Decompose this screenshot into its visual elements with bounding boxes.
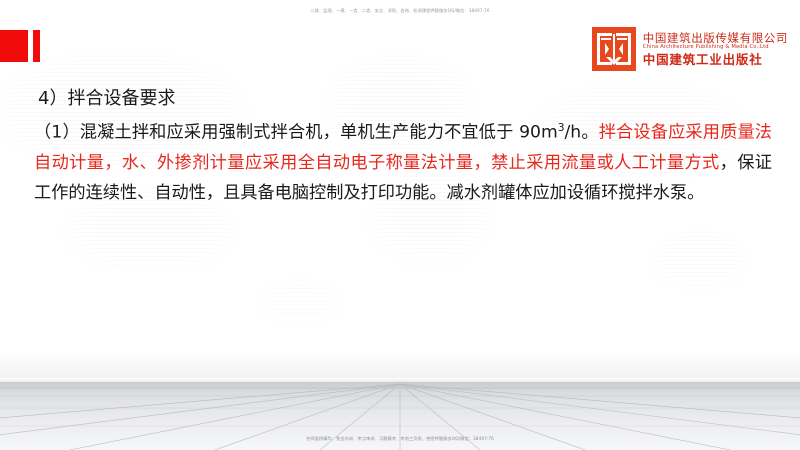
watermark-top: 二建、监理、一建、一造、二造、安全、消防、咨询、检测课程押题服务QQ/微信：38… [0,8,800,14]
red-accent-bar [33,30,40,62]
body-segment-0: （1）混凝土拌和应采用强制式拌合机，单机生产能力不宜低于 90m [34,123,558,143]
slide-heading: 4）拌合设备要求 [38,84,175,110]
logo-imprint-cn: 中国建筑工业出版社 [643,53,788,66]
open-book-building-logo-icon [592,27,636,71]
publisher-logo: 中国建筑出版传媒有限公司 China Architecture Publishi… [592,27,788,71]
red-accent-block [0,30,28,62]
watermark-bottom: 名师面授精华、免金内训、考点串讲、习题模考、考前三页纸、绝密押题服务QQ/微信：… [0,436,800,442]
logo-company-en: China Architecture Publishing & Media Co… [643,45,788,50]
presentation-slide: 二建、监理、一建、一造、二造、安全、消防、咨询、检测课程押题服务QQ/微信：38… [0,0,800,450]
body-segment-2: /h。 [564,123,598,143]
logo-company-cn: 中国建筑出版传媒有限公司 [643,32,788,44]
slide-body-text: （1）混凝土拌和应采用强制式拌合机，单机生产能力不宜低于 90m3/h。拌合设备… [34,113,772,208]
